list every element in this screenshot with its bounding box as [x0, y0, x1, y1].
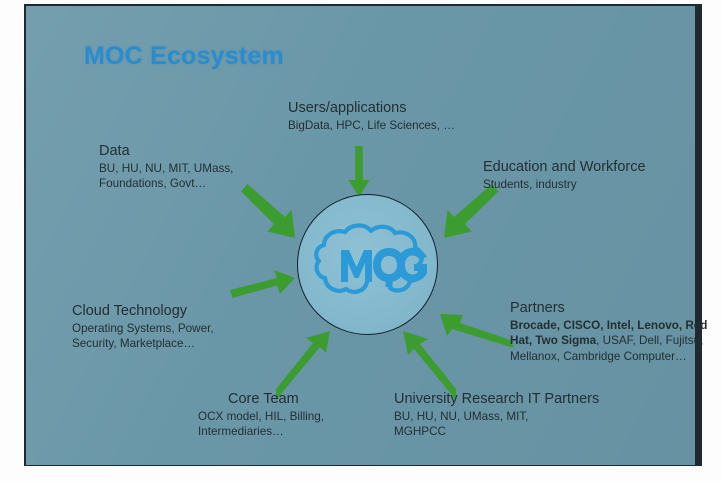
page-title: MOC Ecosystem: [84, 42, 284, 71]
node-line: Operating Systems, Power,: [72, 321, 214, 337]
node-line-bold: Hat, Two Sigma: [510, 334, 596, 347]
node-partners: Partners Brocade, CISCO, Intel, Lenovo, …: [510, 300, 707, 364]
node-cloud-technology: Cloud Technology Operating Systems, Powe…: [72, 303, 214, 352]
node-heading: Cloud Technology: [72, 303, 214, 321]
node-line: MGHPCC: [394, 424, 599, 440]
node-line: OCX model, HIL, Billing,: [198, 409, 324, 425]
node-heading: University Research IT Partners: [394, 391, 599, 409]
node-line: BigData, HPC, Life Sciences, …: [288, 118, 455, 134]
node-line: Hat, Two Sigma, USAF, Dell, Fujitsu,: [510, 333, 707, 349]
arrow-users-applications: [347, 146, 371, 198]
node-heading: Users/applications: [288, 100, 455, 118]
node-line: Intermediaries…: [198, 424, 324, 440]
node-line: Brocade, CISCO, Intel, Lenovo, Red: [510, 318, 707, 334]
node-line-regular: , USAF, Dell, Fujitsu,: [596, 334, 703, 347]
node-line-bold: Brocade, CISCO, Intel, Lenovo, Red: [510, 319, 707, 332]
arrow-education-and-workforce: [438, 184, 504, 246]
node-line: BU, HU, NU, MIT, UMass,: [99, 161, 233, 177]
node-line: Mellanox, Cambridge Computer…: [510, 349, 707, 365]
node-heading: Partners: [510, 300, 707, 318]
node-heading: Data: [99, 143, 233, 161]
node-university-research-it-partners: University Research IT Partners BU, HU, …: [394, 391, 599, 440]
arrow-cloud-technology: [230, 286, 302, 330]
slide-photo: MOC Ecosystem: [0, 0, 722, 481]
slide-surface: MOC Ecosystem: [26, 6, 695, 465]
node-users-applications: Users/applications BigData, HPC, Life Sc…: [288, 100, 455, 133]
node-line: Foundations, Govt…: [99, 176, 233, 192]
moc-cloud-logo: [311, 220, 427, 302]
node-core-team: Core Team OCX model, HIL, Billing, Inter…: [198, 391, 324, 440]
node-heading: Education and Workforce: [483, 159, 646, 177]
node-heading: Core Team: [198, 391, 324, 409]
node-line: Security, Marketplace…: [72, 336, 214, 352]
arrow-data: [241, 184, 307, 246]
node-line: Students, industry: [483, 177, 646, 193]
node-education-and-workforce: Education and Workforce Students, indust…: [483, 159, 646, 192]
node-line: BU, HU, NU, UMass, MIT,: [394, 409, 599, 425]
node-data: Data BU, HU, NU, MIT, UMass, Foundations…: [99, 143, 233, 192]
